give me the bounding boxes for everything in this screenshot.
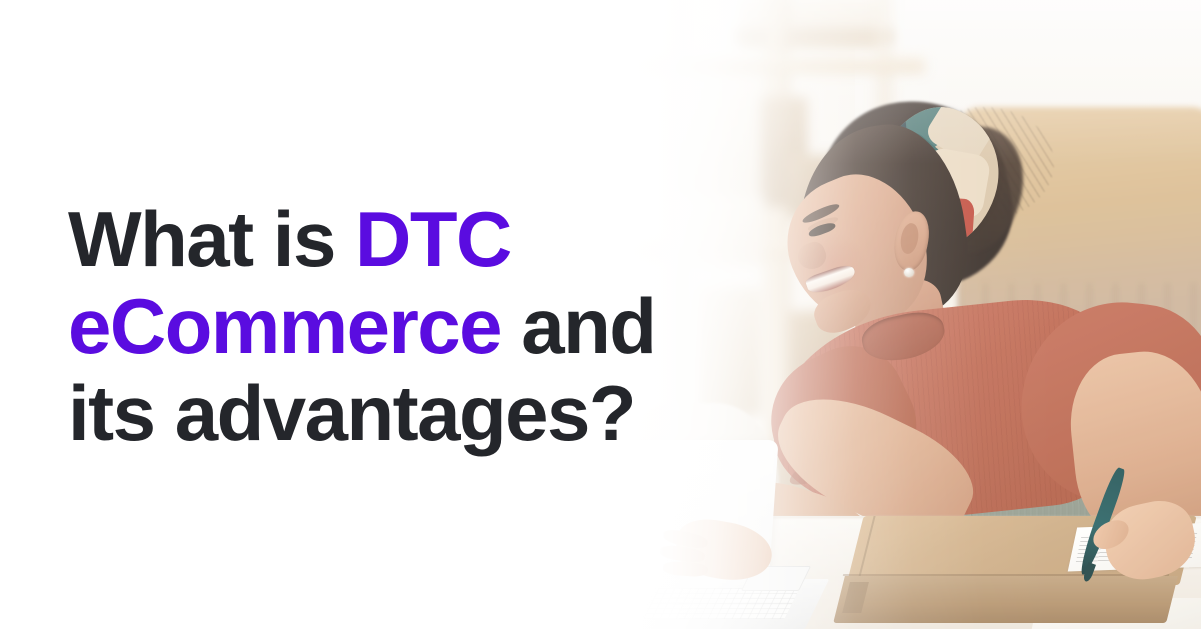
headline-text-what-is: What is [68, 195, 355, 283]
banner-root: What is DTC eCommerce and its advantages… [0, 0, 1201, 629]
headline-line-2: eCommerce and [68, 283, 768, 370]
page-title: What is DTC eCommerce and its advantages… [68, 196, 768, 457]
headline-line-1: What is DTC [68, 196, 768, 283]
kraft-mailer-box-front [834, 576, 1179, 623]
headline-line-3: its advantages? [68, 370, 768, 457]
headline-highlight-ecommerce: eCommerce [68, 282, 501, 370]
headline-text-and: and [501, 282, 655, 370]
laptop-keyboard [643, 588, 799, 619]
earring [904, 268, 914, 277]
headline-highlight-dtc: DTC [355, 195, 511, 283]
